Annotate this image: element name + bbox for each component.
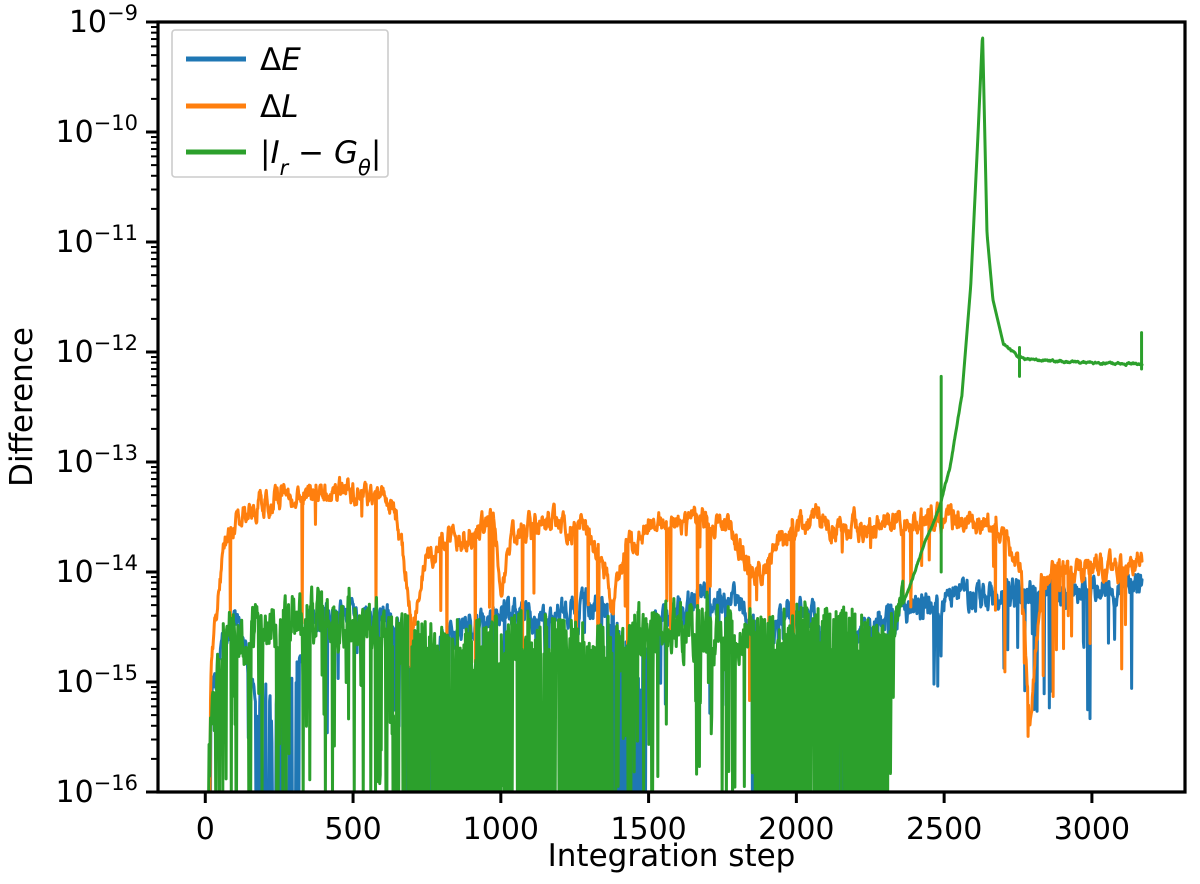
ytick-label-6: 10−10 (55, 111, 138, 150)
figure-container: 05001000150020002500300010−1610−1510−141… (0, 0, 1200, 884)
ytick-label-3: 10−13 (55, 441, 138, 480)
legend-label: ΔE (260, 42, 301, 78)
svg-text:10−9: 10−9 (69, 1, 138, 40)
ytick-label-1: 10−15 (55, 661, 138, 700)
y-axis-title: Difference (4, 327, 40, 487)
x-axis-title: Integration step (548, 838, 796, 874)
ytick-label-7: 10−9 (69, 1, 138, 40)
xtick-label-6: 3000 (1054, 812, 1130, 847)
ytick-label-4: 10−12 (55, 331, 138, 370)
ytick-label-5: 10−11 (55, 221, 138, 260)
svg-text:10−14: 10−14 (55, 551, 138, 590)
svg-text:10−10: 10−10 (55, 111, 138, 150)
legend-label: ΔL (260, 89, 299, 125)
svg-text:10−13: 10−13 (55, 441, 138, 480)
legend-layer: ΔEΔL|Ir − Gθ| (172, 30, 388, 180)
svg-text:10−12: 10−12 (55, 331, 138, 370)
xtick-label-0: 0 (196, 812, 215, 847)
svg-text:10−11: 10−11 (55, 221, 138, 260)
ytick-label-2: 10−14 (55, 551, 138, 590)
ytick-label-0: 10−16 (55, 771, 138, 810)
chart-canvas: 05001000150020002500300010−1610−1510−141… (0, 0, 1200, 884)
svg-text:10−15: 10−15 (55, 661, 138, 700)
xtick-label-1: 500 (324, 812, 381, 847)
xtick-label-2: 1000 (463, 812, 539, 847)
xtick-label-5: 2500 (906, 812, 982, 847)
svg-text:10−16: 10−16 (55, 771, 138, 810)
